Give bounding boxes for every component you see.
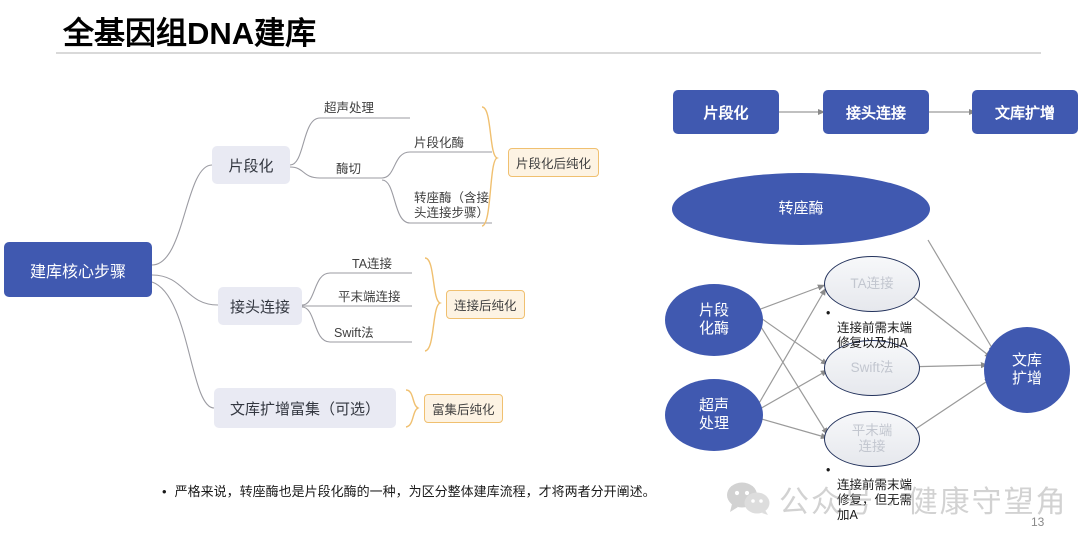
mindmap-tag-post-fragmentation-purification[interactable]: 片段化后纯化 (508, 148, 599, 177)
mindmap-leaf-ta-ligation[interactable]: TA连接 (352, 257, 392, 272)
flow-step-label: 接头连接 (846, 102, 906, 123)
mindmap-node-fragmentation[interactable]: 片段化 (212, 146, 290, 184)
bullet-icon: • (826, 306, 830, 321)
node-library-amplification[interactable]: 文库 扩增 (984, 327, 1070, 413)
node-label: 平末端 连接 (852, 423, 893, 455)
mindmap-root-node: 建库核心步骤 (4, 242, 152, 297)
wechat-icon (726, 482, 770, 516)
mindmap-tag-label: 富集后纯化 (432, 403, 495, 417)
node-label: Swift法 (851, 360, 894, 376)
footnote: •严格来说，转座酶也是片段化酶的一种，为区分整体建库流程，才将两者分开阐述。 (162, 481, 656, 500)
note-ta-ligation: •连接前需末端 修复以及加A (837, 306, 912, 351)
node-sonication[interactable]: 超声 处理 (665, 379, 763, 451)
mindmap-leaf-sonication[interactable]: 超声处理 (324, 101, 374, 116)
flow-step-adapter-ligation[interactable]: 接头连接 (823, 90, 929, 134)
node-fragmentase[interactable]: 片段 化酶 (665, 284, 763, 356)
flow-step-label: 文库扩增 (995, 102, 1055, 123)
note-text: 连接前需末端 修复以及加A (837, 321, 912, 350)
footnote-text: 严格来说，转座酶也是片段化酶的一种，为区分整体建库流程，才将两者分开阐述。 (175, 484, 656, 499)
mindmap-leaf-blunt-end-ligation[interactable]: 平末端连接 (338, 290, 401, 305)
note-text: 连接前需末端 修复，但无需 加A (837, 478, 912, 522)
mindmap-leaf-label: Swift法 (334, 326, 374, 340)
mindmap-leaf-label: 片段化酶 (414, 136, 464, 150)
mindmap-root-label: 建库核心步骤 (30, 258, 126, 282)
flow-step-fragmentation[interactable]: 片段化 (673, 90, 779, 134)
mindmap-node-label: 文库扩增富集（可选） (230, 398, 380, 419)
mindmap-leaf-enzymatic-digestion[interactable]: 酶切 (336, 162, 361, 177)
page-number: 13 (1031, 515, 1044, 529)
bullet-icon: • (826, 463, 830, 478)
node-transposase[interactable]: 转座酶 (672, 173, 930, 245)
mindmap-node-label: 接头连接 (230, 296, 290, 317)
mindmap-tag-label: 片段化后纯化 (516, 157, 591, 171)
flow-step-label: 片段化 (703, 102, 748, 123)
node-ta-ligation[interactable]: TA连接 (824, 256, 920, 312)
slide: 全基因组DNA建库 (0, 0, 1080, 539)
watermark-text: 公众号 · 健康守望角 (779, 477, 1068, 521)
mindmap-tag-label: 连接后纯化 (454, 299, 517, 313)
mindmap-node-library-amplification[interactable]: 文库扩增富集（可选） (214, 388, 396, 428)
page-title: 全基因组DNA建库 (63, 8, 316, 53)
mindmap-leaf-fragmentase[interactable]: 片段化酶 (414, 136, 464, 151)
mindmap-leaf-label: 酶切 (336, 162, 361, 176)
mindmap-leaf-swift[interactable]: Swift法 (334, 326, 374, 341)
note-blunt-end-ligation: •连接前需末端 修复，但无需 加A (837, 463, 912, 523)
mindmap-leaf-transposase[interactable]: 转座酶（含接 头连接步骤） (414, 191, 489, 221)
title-divider (56, 52, 1041, 54)
mindmap-tag-post-ligation-purification[interactable]: 连接后纯化 (446, 290, 525, 319)
bullet-icon: • (162, 484, 167, 499)
mindmap-node-label: 片段化 (228, 155, 273, 176)
mindmap-node-adapter-ligation[interactable]: 接头连接 (218, 287, 302, 325)
mindmap-tag-post-enrichment-purification[interactable]: 富集后纯化 (424, 394, 503, 423)
mindmap-leaf-label: TA连接 (352, 257, 392, 271)
flow-step-library-amplification[interactable]: 文库扩增 (972, 90, 1078, 134)
mindmap-diagram: 建库核心步骤 片段化 接头连接 文库扩增富集（可选） 超声处理 酶切 片段化酶 … (0, 60, 640, 480)
node-label: 片段 化酶 (699, 302, 729, 338)
node-label: 超声 处理 (699, 397, 729, 433)
node-label: TA连接 (850, 276, 893, 292)
mindmap-leaf-label: 超声处理 (324, 101, 374, 115)
node-label: 转座酶 (778, 200, 823, 218)
workflow-diagram: 片段化 接头连接 文库扩增 转座酶 片段 化酶 超声 处理 TA连接 Swift… (640, 60, 1080, 480)
mindmap-leaf-label: 平末端连接 (338, 290, 401, 304)
mindmap-leaf-label: 转座酶（含接 头连接步骤） (414, 191, 489, 220)
node-blunt-end-ligation[interactable]: 平末端 连接 (824, 411, 920, 467)
node-label: 文库 扩增 (1012, 352, 1042, 388)
